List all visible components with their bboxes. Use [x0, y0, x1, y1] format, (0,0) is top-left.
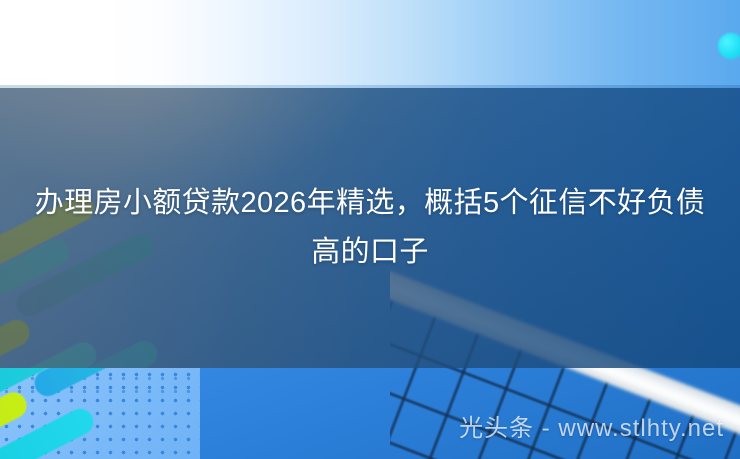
article-cover-card: 办理房小额贷款2026年精选，概括5个征信不好负债高的口子 光头条 - www.… — [0, 0, 740, 459]
header-gradient-band — [0, 0, 740, 88]
cover-title-text: 办理房小额贷款2026年精选，概括5个征信不好负债高的口子 — [25, 179, 715, 277]
cover-title: 办理房小额贷款2026年精选，概括5个征信不好负债高的口子 — [0, 88, 740, 368]
cyan-circle-icon — [718, 33, 740, 59]
cover-title-line-1: 办理房小额贷款2026年精选，概括5个 — [35, 187, 529, 219]
site-watermark: 光头条 - www.stlhty.net — [459, 408, 724, 443]
decorative-light-panel — [0, 368, 200, 459]
